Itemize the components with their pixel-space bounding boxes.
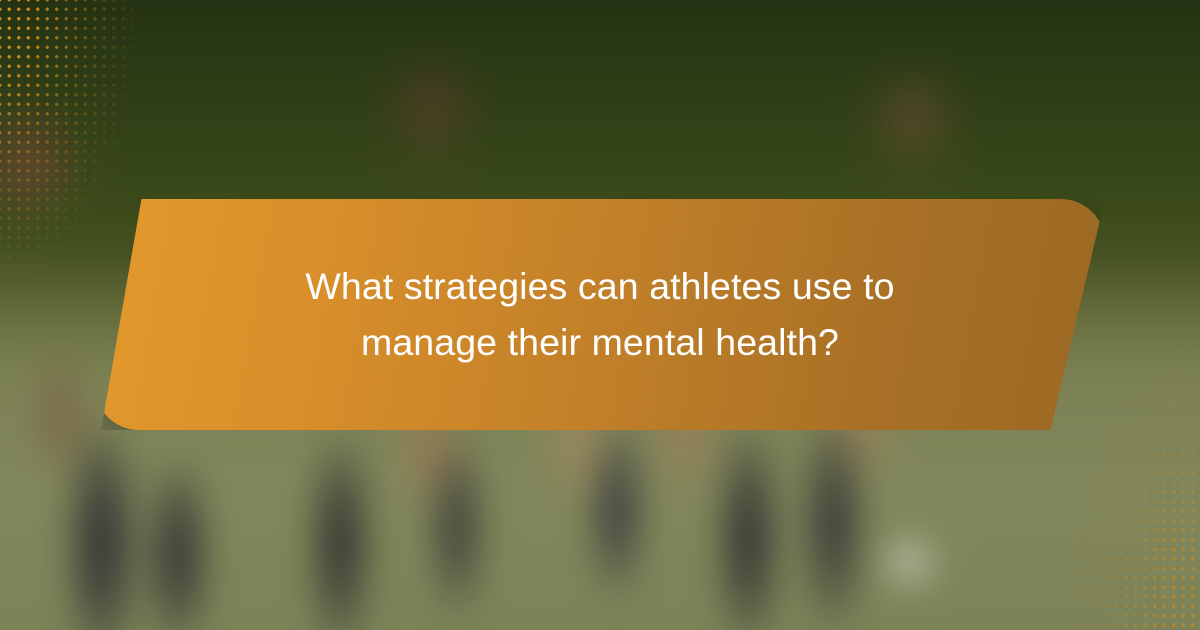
question-text: What strategies can athletes use to mana…: [250, 259, 950, 370]
question-card: What strategies can athletes use to mana…: [95, 199, 1105, 430]
share-card-canvas: What strategies can athletes use to mana…: [0, 0, 1200, 630]
